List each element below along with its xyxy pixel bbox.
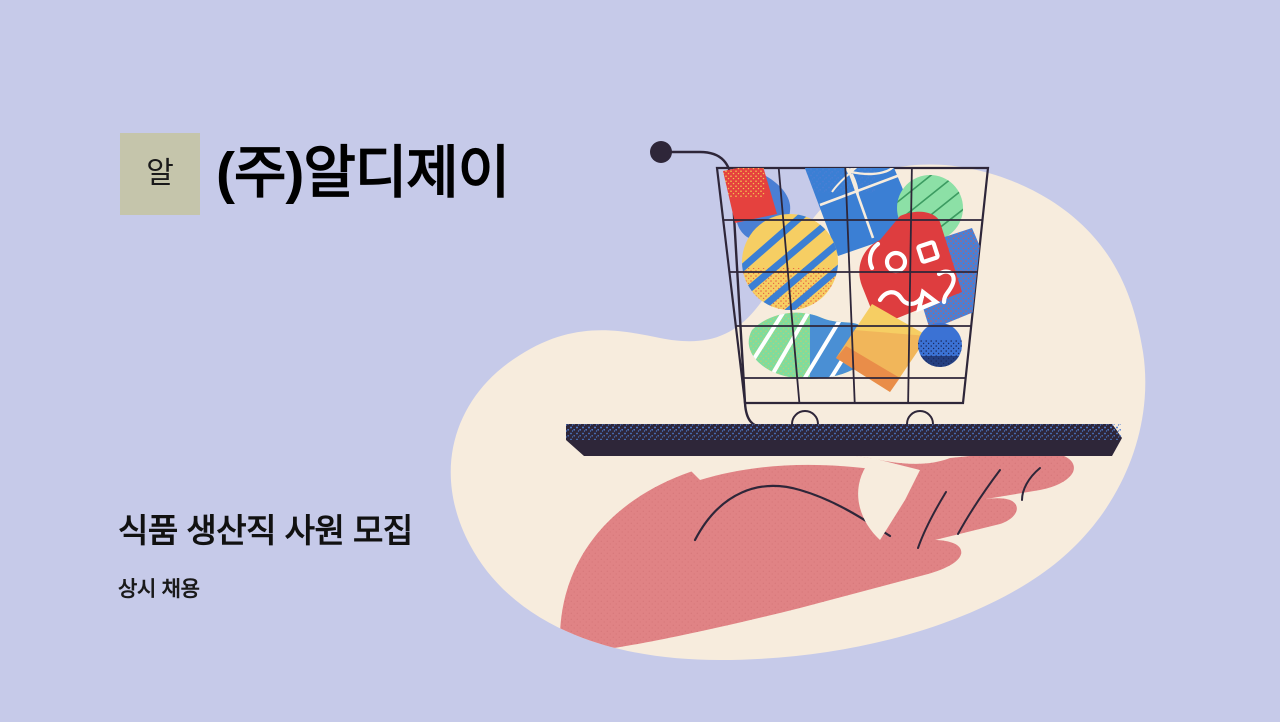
company-badge: 알 — [120, 133, 200, 215]
company-name: (주)알디제이 — [216, 144, 509, 204]
cart-handle-knob — [650, 141, 672, 163]
dark-bar — [566, 424, 1122, 456]
job-subtitle: 상시 채용 — [118, 573, 200, 603]
job-poster: 알 (주)알디제이 식품 생산직 사원 모집 상시 채용 — [0, 0, 1280, 722]
job-title: 식품 생산직 사원 모집 — [118, 504, 413, 552]
company-header: 알 (주)알디제이 — [120, 133, 509, 215]
illustration-shopping-cart — [0, 0, 1280, 722]
